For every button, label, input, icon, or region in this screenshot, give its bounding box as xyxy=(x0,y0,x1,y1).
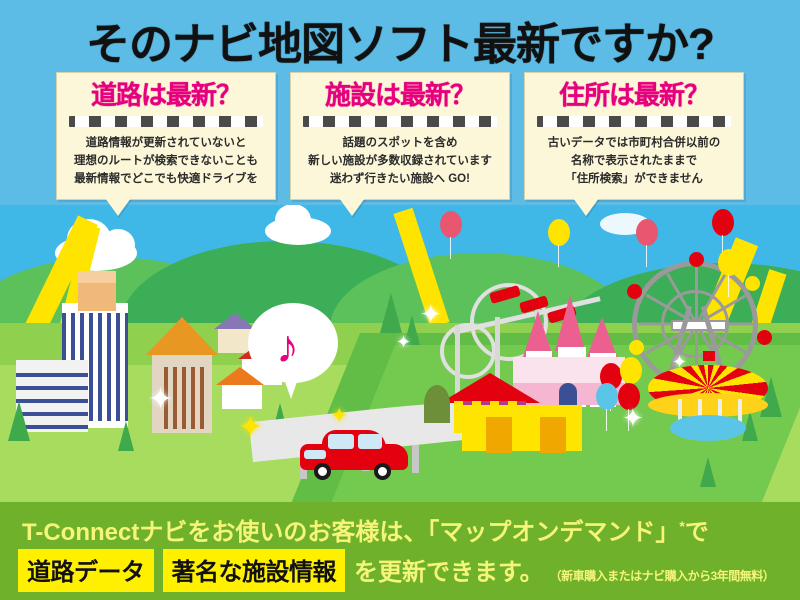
card-line: 「住所検索」ができません xyxy=(533,171,735,189)
carousel xyxy=(648,365,768,445)
card-line: 迷わず行きたい施設へ GO! xyxy=(299,171,501,189)
castle-spire-main xyxy=(555,295,585,351)
balloon xyxy=(712,209,734,236)
card-line: 話題のスポットを含め xyxy=(299,135,501,153)
tree-icon xyxy=(8,401,30,441)
card-line: 理想のルートが検索できないことも xyxy=(65,153,267,171)
balloon xyxy=(718,249,740,276)
tree-icon xyxy=(700,457,716,487)
card-line: 道路情報が更新されていないと xyxy=(65,135,267,153)
sparkle-icon: ✦ xyxy=(330,405,348,427)
info-cards: 道路は最新？ 道路情報が更新されていないと 理想のルートが検索できないことも 最… xyxy=(0,72,800,200)
card-title: 道路は最新？ xyxy=(65,82,267,109)
palm-tree-icon xyxy=(424,385,450,423)
sparkle-icon: ✦ xyxy=(672,353,687,371)
carousel-flag xyxy=(703,351,715,361)
road-pillar xyxy=(412,445,419,473)
banner-headline-suffix: で xyxy=(685,519,709,546)
ferris-gondola xyxy=(745,276,760,291)
info-card-address: 住所は最新？ 古いデータでは市町村合併以前の 名称で表示されたままで 「住所検索… xyxy=(524,72,744,200)
car-window xyxy=(358,434,382,449)
sparkle-icon: ✦ xyxy=(622,405,644,431)
page-title: そのナビ地図ソフト最新ですか? xyxy=(0,8,800,72)
card-line: 新しい施設が多数収録されています xyxy=(299,153,501,171)
carousel-base xyxy=(670,415,746,441)
banner-tail-text: を更新できます。 xyxy=(354,552,544,587)
car-window xyxy=(328,434,354,449)
tower-rooftop-top xyxy=(78,271,116,283)
speech-bubble-tail xyxy=(282,373,300,399)
road-dashed-line-icon xyxy=(69,116,263,127)
tent-roof xyxy=(440,373,540,403)
card-line: 古いデータでは市町村合併以前の xyxy=(533,135,735,153)
illustration-scene: ♪ xyxy=(0,205,800,505)
castle-door xyxy=(559,383,577,405)
house-roof xyxy=(214,313,256,329)
card-tail xyxy=(573,198,599,216)
music-note-icon: ♪ xyxy=(276,323,299,369)
park-building-arch xyxy=(486,417,512,453)
banner-footnote: （新車購入またはナビ購入から3年間無料） xyxy=(550,567,775,584)
card-body: 道路情報が更新されていないと 理想のルートが検索できないことも 最新情報でどこで… xyxy=(65,135,267,188)
card-tail xyxy=(105,198,131,216)
balloon xyxy=(548,219,570,246)
balloon xyxy=(596,383,618,410)
cloud-icon xyxy=(265,217,331,245)
card-tail xyxy=(339,198,365,216)
balloon xyxy=(636,219,658,246)
tree-icon xyxy=(118,421,134,451)
car-window xyxy=(304,450,326,459)
castle-spire xyxy=(587,317,617,357)
brick-building-roof xyxy=(146,317,218,355)
advertisement-poster: ♪ xyxy=(0,0,800,600)
tree-icon xyxy=(380,293,402,333)
card-body: 話題のスポットを含め 新しい施設が多数収録されています 迷わず行きたい施設へ G… xyxy=(299,135,501,188)
ferris-gondola xyxy=(757,330,772,345)
sparkle-icon: ✦ xyxy=(238,413,263,443)
carousel-rim xyxy=(648,393,768,417)
banner-headline-text: T-Connectナビをお使いのお客様は、「マップオンデマンド」 xyxy=(22,519,679,546)
card-title: 住所は最新？ xyxy=(533,82,735,109)
info-card-road: 道路は最新？ 道路情報が更新されていないと 理想のルートが検索できないことも 最… xyxy=(56,72,276,200)
ferris-gondola xyxy=(689,252,704,267)
card-body: 古いデータでは市町村合併以前の 名称で表示されたままで 「住所検索」ができません xyxy=(533,135,735,188)
sparkle-icon: ✦ xyxy=(396,333,411,351)
tower-rooftop-box xyxy=(78,281,116,311)
card-line: 名称で表示されたままで xyxy=(533,153,735,171)
balloon xyxy=(440,211,462,238)
road-dashed-line-icon xyxy=(537,116,731,127)
car-wheel xyxy=(314,463,331,480)
chip-road-data: 道路データ xyxy=(18,549,154,592)
banner-subline: 道路データ 著名な施設情報 を更新できます。 （新車購入またはナビ購入から3年間… xyxy=(18,549,774,592)
card-title: 施設は最新？ xyxy=(299,82,501,109)
park-building-arch xyxy=(540,417,566,453)
banner-headline: T-Connectナビをお使いのお客様は、「マップオンデマンド」*で xyxy=(22,512,709,547)
card-line: 最新情報でどこでも快適ドライブを xyxy=(65,171,267,189)
car-wheel xyxy=(374,463,391,480)
ferris-gondola xyxy=(627,284,642,299)
bottom-banner: T-Connectナビをお使いのお客様は、「マップオンデマンド」*で 道路データ… xyxy=(0,502,800,600)
balloon xyxy=(620,357,642,384)
ferris-gondola xyxy=(629,340,644,355)
road-dashed-line-icon xyxy=(303,116,497,127)
sparkle-icon: ✦ xyxy=(420,301,442,327)
chip-facility-info: 著名な施設情報 xyxy=(163,549,346,592)
info-card-facility: 施設は最新？ 話題のスポットを含め 新しい施設が多数収録されています 迷わず行き… xyxy=(290,72,510,200)
red-car xyxy=(300,430,410,476)
house-roof xyxy=(216,367,264,385)
sparkle-icon: ✦ xyxy=(148,385,173,415)
house xyxy=(222,383,262,409)
